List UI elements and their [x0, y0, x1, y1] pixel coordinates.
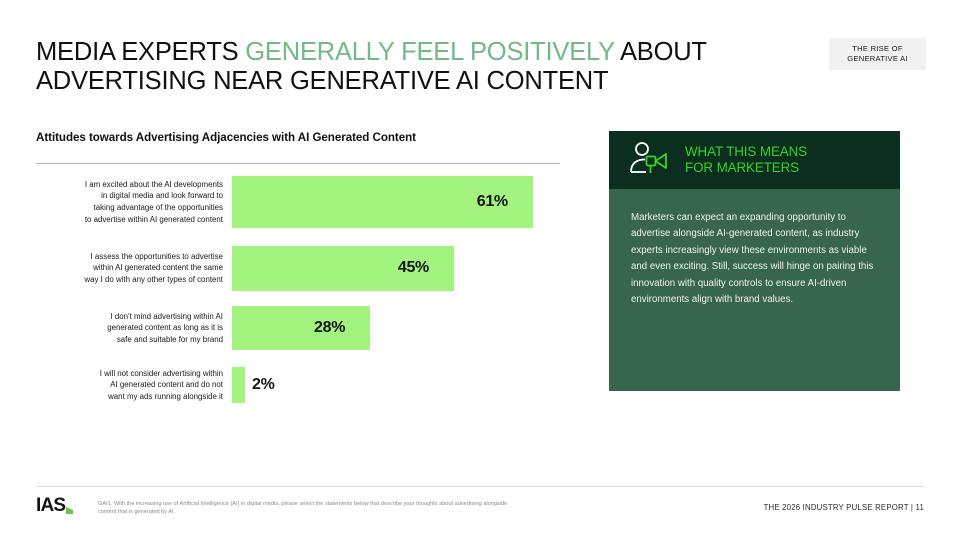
title-part-post: ABOUT [614, 38, 706, 66]
chart-title: Attitudes towards Advertising Adjacencie… [36, 131, 560, 144]
section-badge-line-2: GENERATIVE AI [847, 54, 908, 65]
bar-chart-row: I am excited about the AI developmentsin… [36, 172, 581, 232]
bar-track: 45% [232, 246, 581, 291]
insight-panel-title: WHAT THIS MEANS FOR MARKETERS [685, 144, 807, 177]
footer-separator: | [911, 503, 913, 512]
bar-category-label: I am excited about the AI developmentsin… [36, 179, 232, 225]
footer-report-label: THE 2026 INDUSTRY PULSE REPORT | 11 [764, 503, 924, 512]
title-part-accent: GENERALLY FEEL POSITIVELY [245, 38, 614, 66]
bar-chart-row: I assess the opportunities to advertisew… [36, 242, 581, 294]
insight-panel-text: Marketers can expect an expanding opport… [631, 210, 878, 308]
insight-panel-body: Marketers can expect an expanding opport… [609, 189, 900, 391]
footnote: GAI1. With the increasing use of Artific… [98, 500, 518, 517]
bar-chart: I am excited about the AI developmentsin… [36, 172, 581, 434]
page-number: 11 [916, 503, 925, 512]
slide-root: MEDIA EXPERTS GENERALLY FEEL POSITIVELY … [0, 0, 960, 540]
chart-title-wrap: Attitudes towards Advertising Adjacencie… [36, 131, 560, 144]
insight-panel: WHAT THIS MEANS FOR MARKETERS Marketers … [609, 131, 900, 391]
title-line-1: MEDIA EXPERTS GENERALLY FEEL POSITIVELY … [36, 38, 736, 67]
person-megaphone-icon [629, 141, 671, 180]
bar-chart-row: I will not consider advertising withinAI… [36, 363, 581, 407]
ias-logo-text: IAS [36, 496, 65, 515]
bar-category-label: I will not consider advertising withinAI… [36, 368, 232, 403]
insight-panel-header: WHAT THIS MEANS FOR MARKETERS [609, 131, 900, 189]
insight-panel-title-line-1: WHAT THIS MEANS [685, 144, 807, 161]
bar[interactable] [232, 367, 245, 403]
bar[interactable] [232, 306, 370, 350]
title-line-2: ADVERTISING NEAR GENERATIVE AI CONTENT [36, 67, 736, 96]
bar-track: 28% [232, 306, 581, 350]
section-badge: THE RISE OF GENERATIVE AI [829, 38, 926, 70]
title-part-pre: MEDIA EXPERTS [36, 38, 245, 66]
bar-value-label: 2% [252, 376, 275, 394]
bar-category-label: I assess the opportunities to advertisew… [36, 251, 232, 286]
footer-divider [36, 486, 924, 487]
bar-value-label: 45% [398, 259, 429, 277]
ias-logo: IAS [36, 496, 73, 515]
insight-panel-title-line-2: FOR MARKETERS [685, 160, 807, 177]
page-title: MEDIA EXPERTS GENERALLY FEEL POSITIVELY … [36, 38, 736, 96]
bar-category-label: I don't mind advertising within AIgenera… [36, 311, 232, 346]
bar-chart-row: I don't mind advertising within AIgenera… [36, 303, 581, 353]
bar-value-label: 61% [477, 193, 508, 211]
bar-value-label: 28% [314, 319, 345, 337]
section-badge-line-1: THE RISE OF [852, 44, 902, 55]
bar-track: 61% [232, 176, 581, 228]
bar-track: 2% [232, 367, 581, 403]
report-title: THE 2026 INDUSTRY PULSE REPORT [764, 503, 909, 512]
ias-logo-mark-icon [66, 507, 73, 514]
chart-title-divider [36, 163, 560, 164]
